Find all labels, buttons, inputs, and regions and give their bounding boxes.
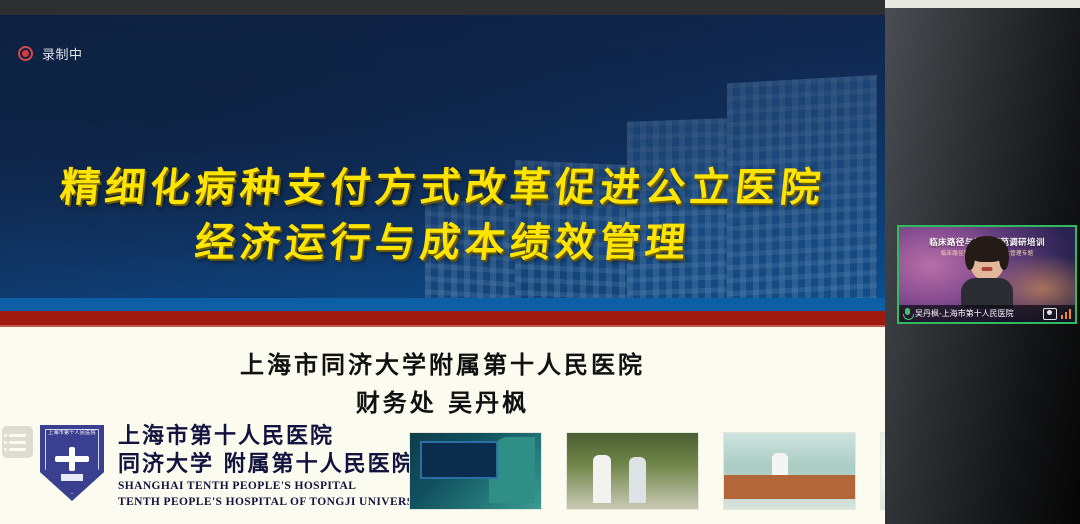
shared-slide[interactable]: 录制中 精细化病种支付方式改革促进公立医院 经济运行与成本绩效管理 上海市同济大… (0, 15, 885, 524)
panel-top-highlight (885, 0, 1080, 8)
photo-surgery-imaging (409, 432, 542, 510)
hospital-shield-logo-icon: 上海市第十人民医院 (40, 425, 104, 501)
participants-panel: 临床路径与诊疗规范调研培训 临床路径管理与医院精细化管理专题 吴丹枫-上海市第十… (885, 8, 1080, 524)
slide-subtitle: 上海市同济大学附属第十人民医院 财务处 吴丹枫 (0, 347, 885, 423)
logo-cn-line-1: 上海市第十人民医院 (118, 423, 435, 451)
meeting-screen: 录制中 精细化病种支付方式改革促进公立医院 经济运行与成本绩效管理 上海市同济大… (0, 0, 1080, 524)
hospital-logo-text: 上海市第十人民医院 同济大学 附属第十人民医院 SHANGHAI TENTH P… (118, 423, 435, 510)
slide-lower-section: 上海市同济大学附属第十人民医院 财务处 吴丹枫 上海市第十人民医院 上海市第十人… (0, 327, 885, 524)
microphone-icon[interactable] (903, 308, 911, 320)
recording-indicator: 录制中 (18, 44, 83, 63)
logo-en-line-1: SHANGHAI TENTH PEOPLE'S HOSPITAL (118, 479, 435, 495)
slide-title-line-1: 精细化病种支付方式改革促进公立医院 (0, 161, 885, 216)
slide-hero-background: 录制中 精细化病种支付方式改革促进公立医院 经济运行与成本绩效管理 (0, 15, 885, 310)
caduceus-cross-icon (55, 447, 89, 471)
photo-nurse-station (723, 432, 856, 510)
shield-top-text: 上海市第十人民医院 (40, 429, 104, 436)
subtitle-line-2: 财务处 吴丹枫 (0, 385, 885, 423)
slide-title-line-2: 经济运行与成本绩效管理 (0, 216, 885, 271)
logo-en-line-2: TENTH PEOPLE'S HOSPITAL OF TONGJI UNIVER… (118, 495, 435, 511)
photo-doctors-outdoor (566, 432, 699, 510)
hospital-photo-strip (409, 432, 885, 510)
logo-cn-line-2: 同济大学 附属第十人民医院 (118, 451, 435, 479)
subtitle-line-1: 上海市同济大学附属第十人民医院 (0, 347, 885, 385)
participant-avatar (961, 240, 1013, 306)
participant-name-bar: 吴丹枫-上海市第十人民医院 (899, 305, 1075, 322)
video-tile-active-speaker[interactable]: 临床路径与诊疗规范调研培训 临床路径管理与医院精细化管理专题 吴丹枫-上海市第十… (897, 225, 1077, 324)
signal-strength-icon (1061, 309, 1072, 319)
blue-divider-band (0, 298, 885, 311)
record-dot-icon (18, 46, 33, 61)
slide-title: 精细化病种支付方式改革促进公立医院 经济运行与成本绩效管理 (0, 161, 885, 271)
screen-share-icon (1043, 308, 1057, 320)
participant-name-label: 吴丹枫-上海市第十人民医院 (915, 308, 1039, 319)
recording-label: 录制中 (42, 44, 83, 63)
red-divider-band (0, 311, 885, 325)
list-menu-icon[interactable] (2, 426, 33, 458)
window-top-bar (0, 0, 885, 15)
